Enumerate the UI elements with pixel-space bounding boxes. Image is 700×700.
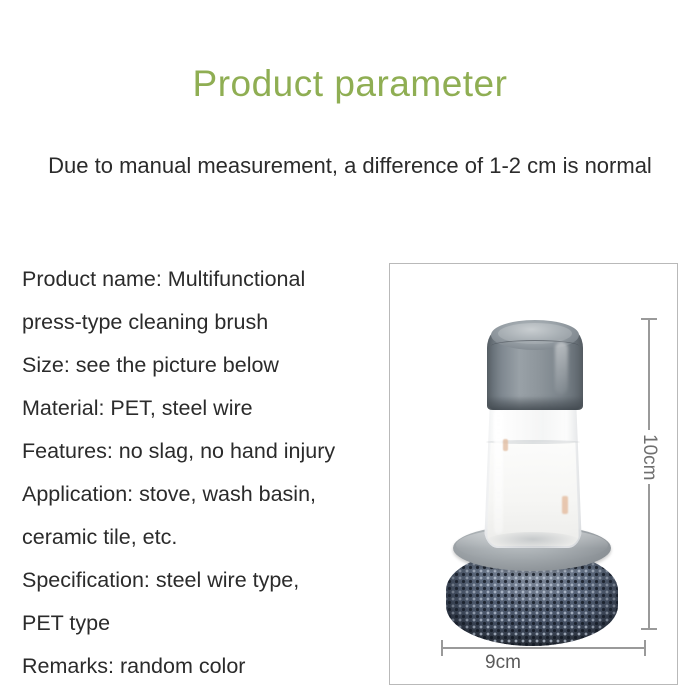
spec-line-application: Application: stove, wash basin,	[22, 473, 372, 516]
height-dimension-tick-top	[641, 318, 657, 320]
page-title: Product parameter	[0, 62, 700, 106]
bottle-speck-left	[503, 439, 508, 451]
width-dimension-label: 9cm	[485, 652, 521, 673]
product-parameter-page: Product parameter Due to manual measurem…	[0, 0, 700, 700]
product-image-panel	[389, 263, 678, 685]
spec-line-material: Material: PET, steel wire	[22, 387, 372, 430]
product-photo	[390, 264, 678, 685]
cap-bottom-edge	[487, 396, 583, 410]
width-dimension-line	[441, 647, 645, 649]
height-dimension-label: 10cm	[640, 430, 659, 484]
height-dimension-tick-bottom	[641, 628, 657, 630]
spec-line-size: Size: see the picture below	[22, 344, 372, 387]
cap-gloss-highlight	[555, 342, 568, 394]
spec-line-product-name: Product name: Multifunctional	[22, 258, 372, 301]
bottle-speck-right	[562, 496, 568, 514]
measurement-disclaimer: Due to manual measurement, a difference …	[0, 152, 700, 180]
spec-line-specification: Specification: steel wire type,	[22, 559, 372, 602]
width-dimension-label-wrap: 9cm	[0, 652, 700, 674]
specification-list: Product name: Multifunctional press-type…	[22, 258, 372, 688]
spec-line-application-cont: ceramic tile, etc.	[22, 516, 372, 559]
bottle-highlight	[494, 410, 503, 534]
spec-line-features: Features: no slag, no hand injury	[22, 430, 372, 473]
spec-line-product-name-cont: press-type cleaning brush	[22, 301, 372, 344]
spec-line-specification-cont: PET type	[22, 602, 372, 645]
bottle-base-shadow	[486, 532, 580, 550]
